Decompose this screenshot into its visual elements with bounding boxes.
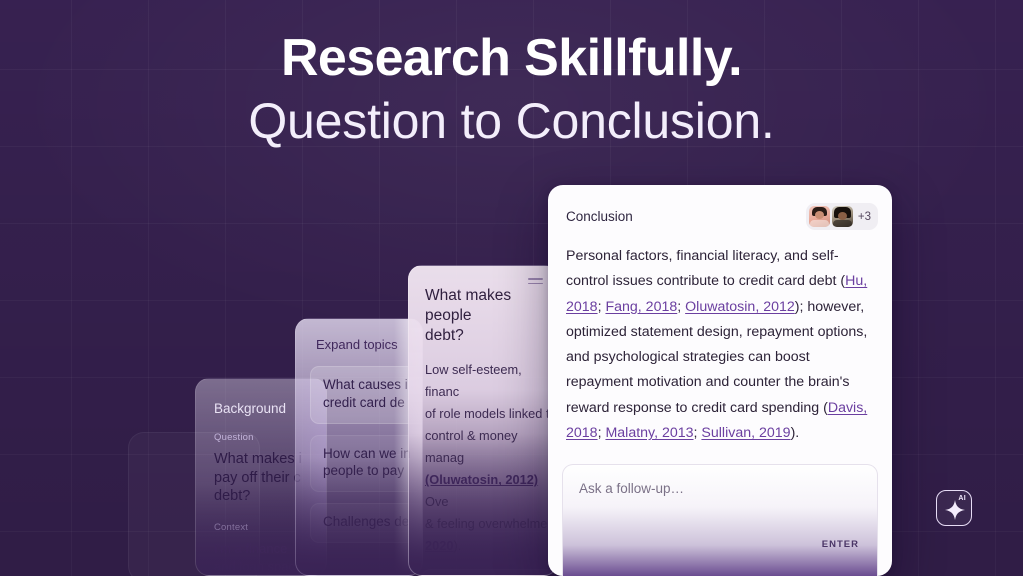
headline-line-2: Question to Conclusion. [0,89,1023,153]
page-title: Research Skillfully. Question to Conclus… [0,28,1023,153]
citation-link[interactable]: (Oluwatosin, 2012) [425,472,538,487]
drag-handle-icon[interactable] [528,278,543,286]
citation-link[interactable]: 2020 [425,538,453,553]
citation-separator: ; [677,299,685,315]
followup-input[interactable]: Ask a follow-up… ENTER [562,464,878,576]
app-canvas: Research Skillfully. Question to Conclus… [0,0,1023,576]
suggestion-item[interactable]: What causes i credit card de [310,366,423,424]
expand-topics-card[interactable]: Expand topics What causes i credit card … [295,318,423,576]
paragraph-segment-3: ). [791,425,800,441]
expand-topics-title: Expand topics [316,337,422,352]
conclusion-card[interactable]: Conclusion +3 Personal factors, financia… [548,185,892,576]
question-card-title: What makes people debt? [425,286,557,345]
citation-link[interactable]: Oluwatosin, 2012 [685,299,795,315]
question-sub-card[interactable]: Optimism, intuitive materialism have a h… [421,569,558,576]
conclusion-header: Conclusion +3 [548,185,892,230]
question-body-segment-2: Ove & feeling overwhelmed [425,494,554,531]
citation-link[interactable]: Fang, 2018 [605,299,677,315]
citation-link[interactable]: Sullivan, 2019 [701,425,790,441]
citation-link[interactable]: Malatny, 2013 [605,425,693,441]
conclusion-title: Conclusion [566,209,633,224]
conclusion-paragraph: Personal factors, financial literacy, an… [548,230,892,446]
paragraph-segment-2: ); however, optimized statement design, … [566,299,867,416]
avatar[interactable] [832,206,853,227]
question-card-body: Low self-esteem, financ of role models l… [425,359,557,557]
enter-hint: ENTER [822,539,859,550]
avatar[interactable] [809,206,830,227]
followup-placeholder: Ask a follow-up… [579,481,861,496]
question-answer-card[interactable]: What makes people debt? Low self-esteem,… [408,265,558,576]
suggestion-item[interactable]: How can we in people to pay [310,435,423,493]
headline-line-1: Research Skillfully. [0,28,1023,89]
ai-assistant-button[interactable]: AI [936,490,972,526]
question-body-segment-3: ). [453,538,461,553]
paragraph-segment-1: Personal factors, financial literacy, an… [566,248,845,289]
collaborator-avatars[interactable]: +3 [806,203,878,230]
suggestion-item[interactable]: Challenges de [310,503,423,543]
question-body-segment-1: Low self-esteem, financ of role models l… [425,362,557,465]
avatar-overflow-count: +3 [858,211,871,223]
ai-button-label: AI [958,495,966,502]
